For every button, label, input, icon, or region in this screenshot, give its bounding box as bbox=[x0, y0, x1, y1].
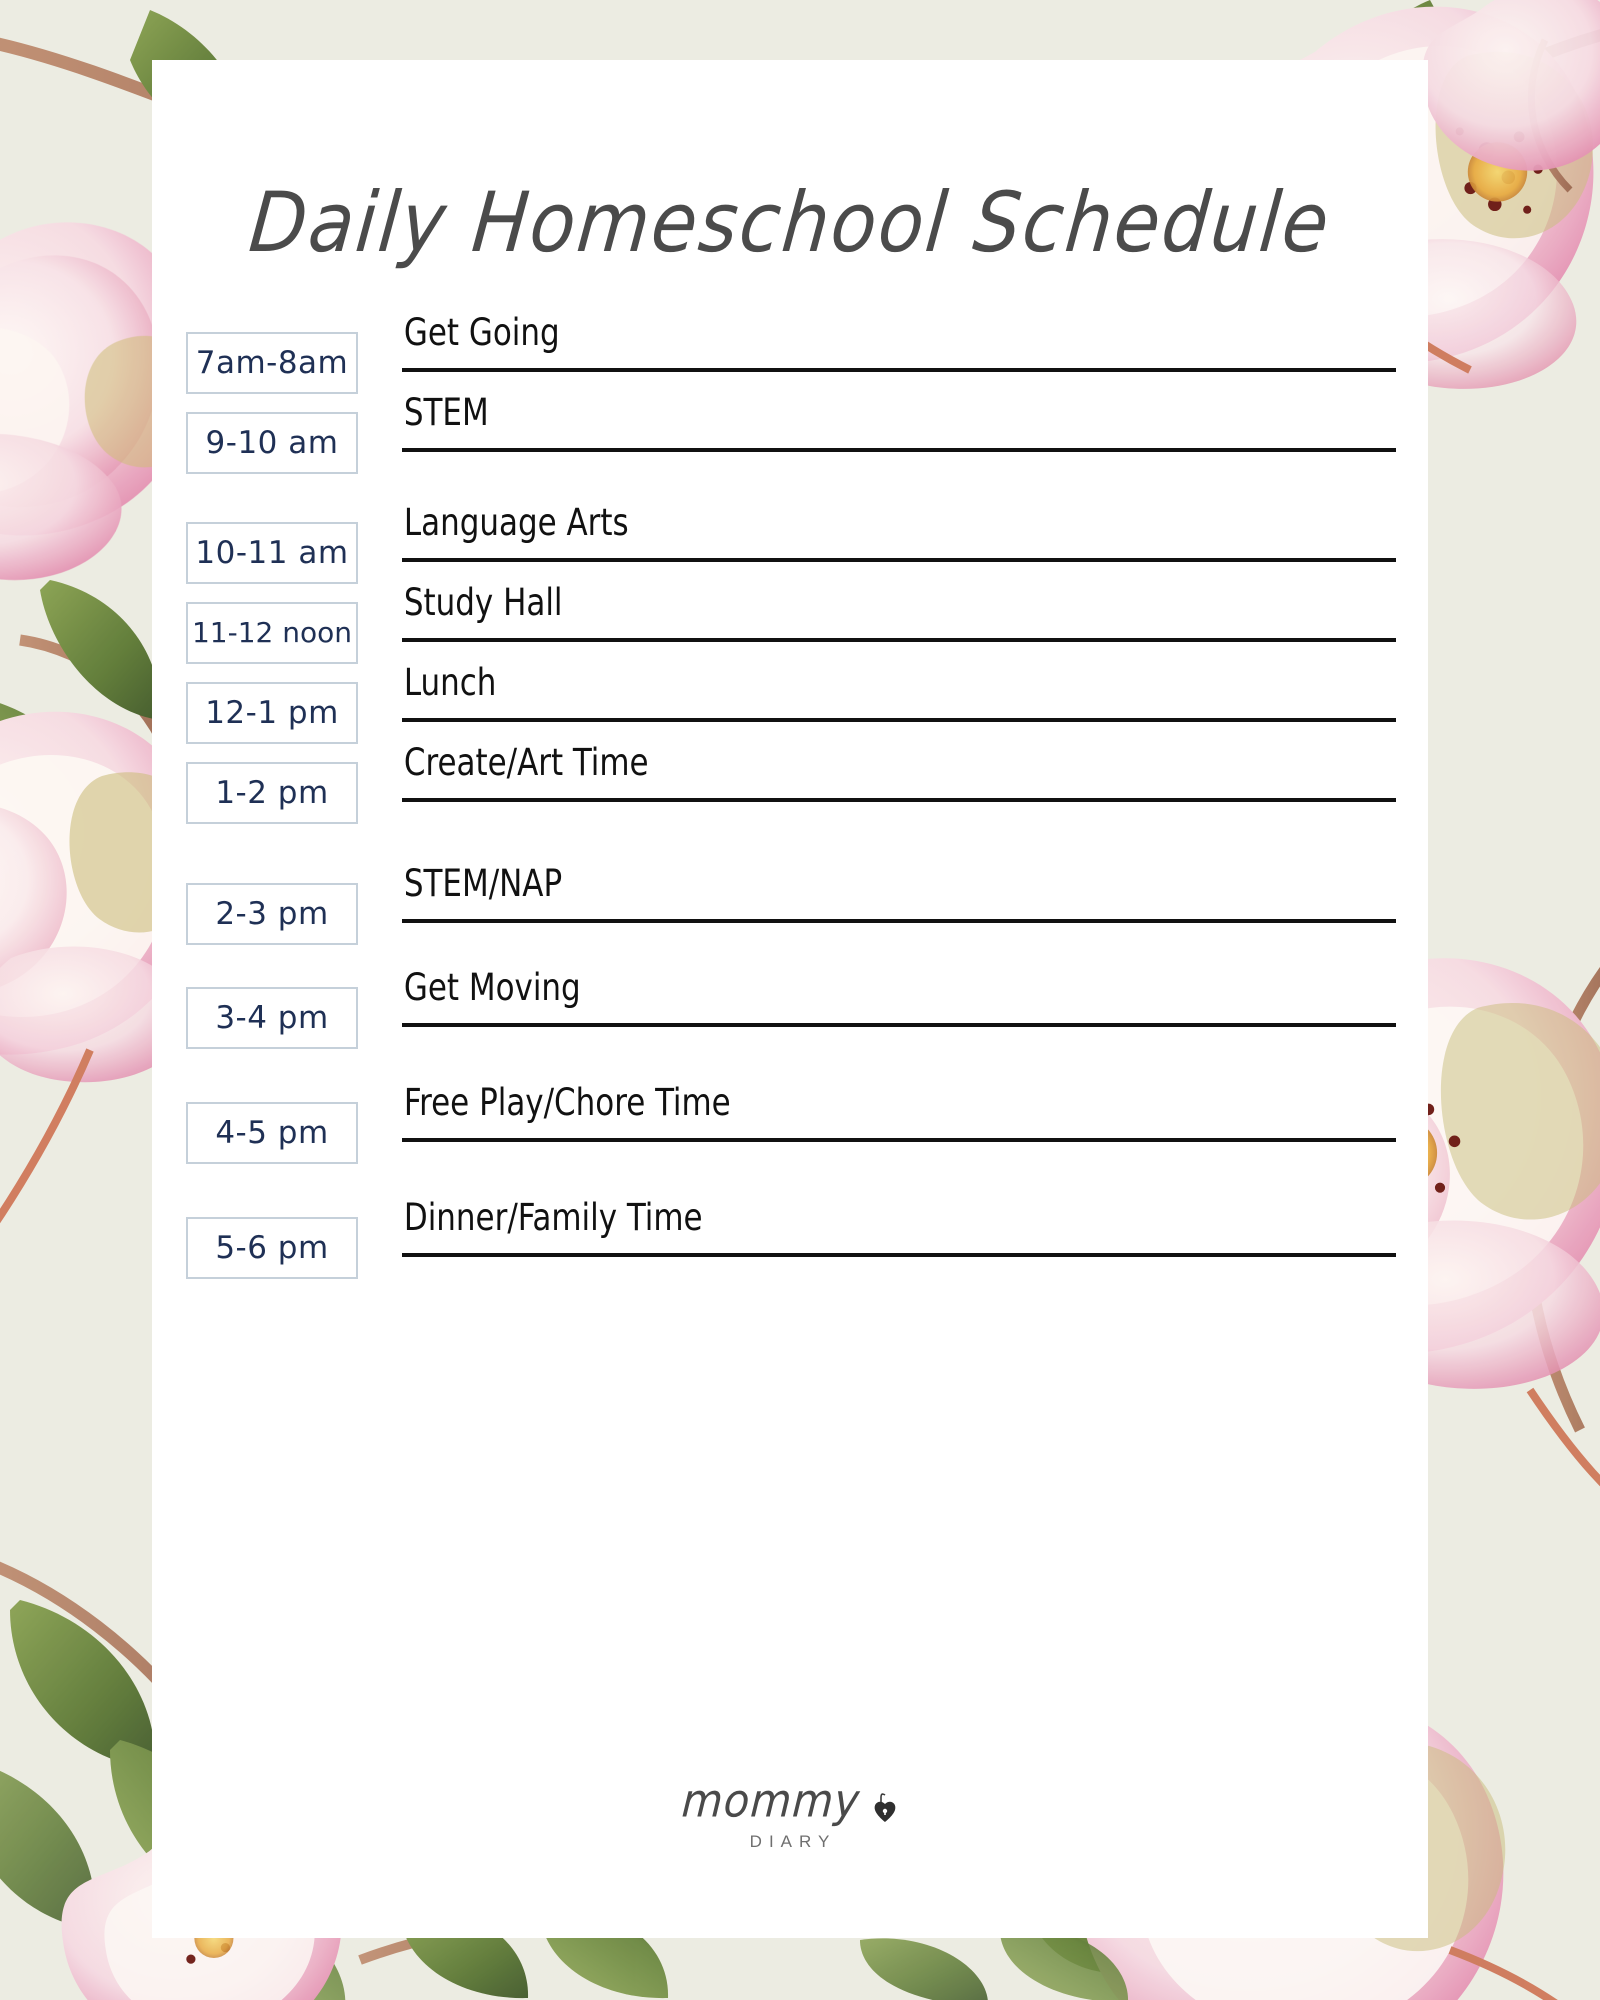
task-label: Free Play/Chore Time bbox=[402, 1080, 1326, 1126]
page-title: Daily Homeschool Schedule bbox=[152, 175, 1428, 271]
schedule-row: 11-12 noon Study Hall bbox=[186, 580, 1396, 660]
brand-script-text: mommy bbox=[680, 1773, 862, 1827]
task-field[interactable]: STEM bbox=[402, 390, 1396, 474]
time-slot-box[interactable]: 3-4 pm bbox=[186, 987, 358, 1049]
schedule-list: 7am-8am Get Going 9-10 am STEM 10-11 am … bbox=[186, 310, 1396, 1275]
task-label: Lunch bbox=[402, 660, 1326, 706]
brand-logo: mommy DIARY bbox=[152, 1776, 1428, 1852]
task-label: STEM bbox=[402, 390, 1326, 436]
brand-subtitle: DIARY bbox=[152, 1832, 1428, 1852]
time-slot-box[interactable]: 4-5 pm bbox=[186, 1102, 358, 1164]
time-slot-box[interactable]: 9-10 am bbox=[186, 412, 358, 474]
task-label: Create/Art Time bbox=[402, 740, 1326, 786]
task-field[interactable]: Language Arts bbox=[402, 500, 1396, 584]
task-field[interactable]: Get Going bbox=[402, 310, 1396, 394]
task-underline bbox=[402, 638, 1396, 642]
time-slot-box[interactable]: 5-6 pm bbox=[186, 1217, 358, 1279]
schedule-row: 1-2 pm Create/Art Time bbox=[186, 740, 1396, 861]
schedule-row: 7am-8am Get Going bbox=[186, 310, 1396, 390]
task-label: Study Hall bbox=[402, 580, 1326, 626]
task-label: STEM/NAP bbox=[402, 861, 1326, 907]
time-slot-box[interactable]: 10-11 am bbox=[186, 522, 358, 584]
schedule-row: 4-5 pm Free Play/Chore Time bbox=[186, 1080, 1396, 1195]
heart-lock-icon bbox=[872, 1793, 898, 1828]
task-label: Get Moving bbox=[402, 965, 1326, 1011]
task-underline bbox=[402, 448, 1396, 452]
page-title-text: Daily Homeschool Schedule bbox=[245, 175, 1334, 271]
task-underline bbox=[402, 718, 1396, 722]
task-field[interactable]: Create/Art Time bbox=[402, 740, 1396, 824]
schedule-card: Daily Homeschool Schedule 7am-8am Get Go… bbox=[152, 60, 1428, 1938]
time-slot-box[interactable]: 2-3 pm bbox=[186, 883, 358, 945]
task-underline bbox=[402, 919, 1396, 923]
schedule-row: 3-4 pm Get Moving bbox=[186, 965, 1396, 1080]
task-underline bbox=[402, 798, 1396, 802]
task-field[interactable]: Get Moving bbox=[402, 965, 1396, 1049]
task-label: Get Going bbox=[402, 310, 1326, 356]
task-underline bbox=[402, 558, 1396, 562]
schedule-row: 10-11 am Language Arts bbox=[186, 500, 1396, 580]
schedule-row: 12-1 pm Lunch bbox=[186, 660, 1396, 740]
time-slot-box[interactable]: 1-2 pm bbox=[186, 762, 358, 824]
task-label: Dinner/Family Time bbox=[402, 1195, 1326, 1241]
time-slot-box[interactable]: 11-12 noon bbox=[186, 602, 358, 664]
task-label: Language Arts bbox=[402, 500, 1326, 546]
task-underline bbox=[402, 1138, 1396, 1142]
task-field[interactable]: Dinner/Family Time bbox=[402, 1195, 1396, 1279]
task-field[interactable]: Free Play/Chore Time bbox=[402, 1080, 1396, 1164]
task-field[interactable]: Study Hall bbox=[402, 580, 1396, 664]
schedule-row: 9-10 am STEM bbox=[186, 390, 1396, 500]
task-underline bbox=[402, 1023, 1396, 1027]
task-field[interactable]: Lunch bbox=[402, 660, 1396, 744]
task-underline bbox=[402, 368, 1396, 372]
time-slot-box[interactable]: 12-1 pm bbox=[186, 682, 358, 744]
task-underline bbox=[402, 1253, 1396, 1257]
task-field[interactable]: STEM/NAP bbox=[402, 861, 1396, 945]
schedule-row: 5-6 pm Dinner/Family Time bbox=[186, 1195, 1396, 1275]
time-slot-box[interactable]: 7am-8am bbox=[186, 332, 358, 394]
schedule-row: 2-3 pm STEM/NAP bbox=[186, 861, 1396, 965]
